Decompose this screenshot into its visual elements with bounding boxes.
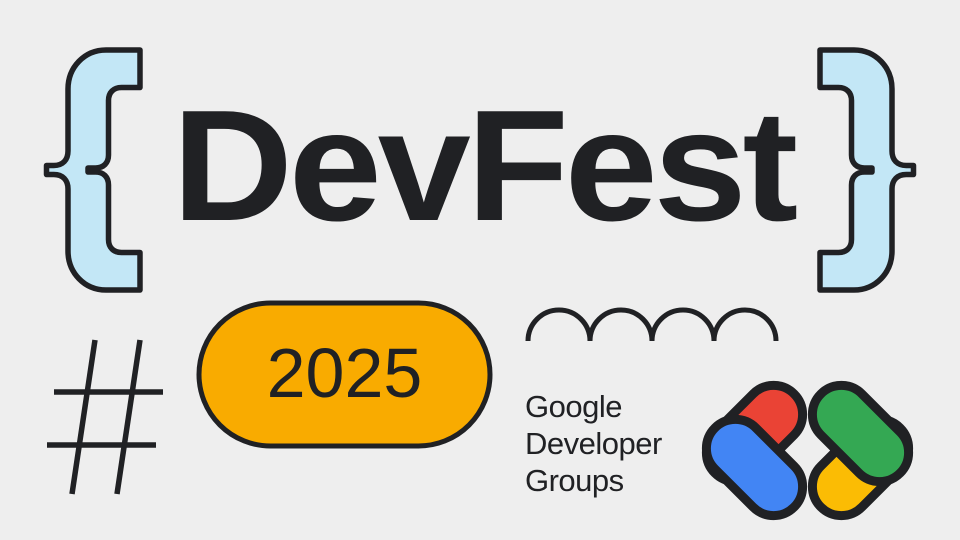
year-label: 2025 (267, 334, 423, 412)
year-badge: 2025 (199, 303, 490, 446)
poster-canvas: DevFest 2025 Google Developer Groups (0, 0, 960, 540)
page-title: DevFest (172, 78, 797, 254)
brace-left-shape (44, 40, 150, 302)
brand-name-line-3: Groups (525, 463, 624, 498)
brand-name-line-2: Developer (525, 426, 662, 461)
brand-name-line-1: Google (525, 389, 622, 424)
devfest-poster: DevFest 2025 Google Developer Groups (0, 0, 960, 540)
